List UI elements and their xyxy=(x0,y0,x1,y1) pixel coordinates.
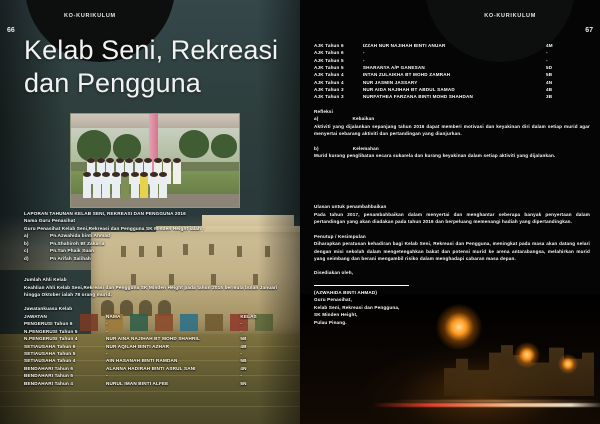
conclusion-heading: Penutup / Kesimpulan xyxy=(314,233,590,240)
right-page: KO-KURIKULUM 67 AJK Tahun 6 IZZAH NUR NA… xyxy=(300,0,600,424)
strength-label: Kebaikan xyxy=(352,116,374,121)
advisor-name: Pn.Shahiroh Bt Zakaria xyxy=(50,240,105,247)
club-group-photo xyxy=(70,113,240,208)
cell-post: BENDAHARI Tahun 6 xyxy=(24,365,106,372)
cell-post: SETIAUSAHA Tahun 4 xyxy=(24,357,106,364)
col-jawatan: JAWATAN xyxy=(24,313,106,320)
cell-name: - xyxy=(106,320,240,327)
prepared-by-label: Disediakan oleh, xyxy=(314,269,590,276)
cell-class: - xyxy=(546,49,590,56)
cell-post: AJK Tahun 4 xyxy=(314,79,363,86)
table-row: PENGERUSI Tahun 6 - - xyxy=(24,320,286,327)
advisor-key: a) xyxy=(24,232,50,239)
cell-name: SHARANYA A/P GANESAN xyxy=(363,64,546,71)
signature-name: (AZWAHIDA BINTI AHMAD) xyxy=(314,289,590,296)
ajk-table: AJK Tahun 6 IZZAH NUR NAJIHAH BINTI ANUA… xyxy=(314,42,590,101)
reflection-heading: Refleksi xyxy=(314,108,590,115)
table-row: BENDAHARI Tahun 4 NURUL IMAN BINTI ALFEE… xyxy=(24,380,286,387)
weakness-label: Kelemahan xyxy=(353,146,379,151)
improvement-text: Pada tahun 2017, penambahbaikan dalam me… xyxy=(314,211,590,226)
cell-name: IZZAH NUR NAJIHAH BINTI ANUAR xyxy=(363,42,546,49)
col-nama: NAMA xyxy=(106,313,240,320)
advisor-intro: Guru Penasihat Kelab Seni,Rekreasi dan P… xyxy=(24,225,286,232)
cell-post: AJK Tahun 4 xyxy=(314,71,363,78)
advisor-key: d) xyxy=(24,255,50,262)
page-title-line-2: dan Pengguna xyxy=(24,67,284,100)
table-row: N.PENGERUSI Tahun 5 - - xyxy=(24,328,286,335)
table-header-row: JAWATAN NAMA KELAS xyxy=(24,313,286,320)
cell-class: 5B xyxy=(240,335,286,342)
committee-heading: Jawatankuasa Kelab xyxy=(24,305,286,312)
table-row: N.PENGERUSI Tahun 4 NUR AINA NAJIHAH BT … xyxy=(24,335,286,342)
table-row: AJK Tahun 4 NUR JASMIN JASSARY 4N xyxy=(314,79,590,86)
cell-class: - xyxy=(240,320,286,327)
cell-post: N.PENGERUSI Tahun 5 xyxy=(24,328,106,335)
signature-school: SK Minden Height, xyxy=(314,311,590,318)
improvement-heading: Ulasan untuk penambahbaikan xyxy=(314,203,590,210)
table-row: AJK Tahun 3 NUR AIDA NAJIHAH BT ABDUL SA… xyxy=(314,86,590,93)
left-report-text: LAPORAN TAHUNAN KELAB SENI, REKREASI DAN… xyxy=(24,210,286,387)
strength-row: a)Kebaikan xyxy=(314,115,590,122)
table-row: AJK Tahun 4 INTAN ZULAIKHA BT MOHD ZAMRA… xyxy=(314,71,590,78)
weakness-row: b)Kelemahan xyxy=(314,145,590,152)
table-row: BENDAHARI Tahun 5 - - xyxy=(24,372,286,379)
weakness-text: Murid kurang penglibatan secara sukarela… xyxy=(314,152,590,159)
advisor-item: a) Pn.Azwahida binti Ahmad xyxy=(24,232,286,239)
left-page: KO-KURIKULUM 66 Kelab Seni, Rekreasi dan… xyxy=(0,0,300,424)
cell-class: - xyxy=(240,328,286,335)
cell-class: 4B xyxy=(240,343,286,350)
cell-name: INTAN ZULAIKHA BT MOHD ZAMRAH xyxy=(363,71,546,78)
cell-class: 5D xyxy=(546,64,590,71)
cell-class: - xyxy=(546,57,590,64)
cell-name: NUR AQILAH BINTI AZHAR xyxy=(106,343,240,350)
cell-class: 4N xyxy=(546,79,590,86)
cell-name: - xyxy=(106,350,240,357)
cell-name: NUR JASMIN JASSARY xyxy=(363,79,546,86)
signature-line xyxy=(314,285,409,286)
cell-class: 4B xyxy=(546,86,590,93)
table-row: SETIAUSAHA Tahun 4 AIN HASANAH BINTI RAM… xyxy=(24,357,286,364)
cell-name: ALANNA HADIRAH BINTI ASRUL SANI xyxy=(106,365,240,372)
cell-post: AJK Tahun 5 xyxy=(314,57,363,64)
cell-post: BENDAHARI Tahun 4 xyxy=(24,380,106,387)
cell-class: 4N xyxy=(240,365,286,372)
street-lamp-glow xyxy=(558,354,578,374)
cell-name: - xyxy=(106,372,240,379)
report-heading: LAPORAN TAHUNAN KELAB SENI, REKREASI DAN… xyxy=(24,210,286,217)
cell-name: NURUL IMAN BINTI ALFEE xyxy=(106,380,240,387)
cell-post: SETIAUSAHA Tahun 6 xyxy=(24,343,106,350)
cell-post: SETIAUSAHA Tahun 5 xyxy=(24,350,106,357)
cell-name: NUR AIDA NAJIHAH BT ABDUL SAMAD xyxy=(363,86,546,93)
page-number-left: 66 xyxy=(7,27,15,34)
cell-class: 5B xyxy=(546,71,590,78)
magazine-spread: KO-KURIKULUM 66 Kelab Seni, Rekreasi dan… xyxy=(0,0,600,424)
table-row: AJK Tahun 6 - - xyxy=(314,49,590,56)
cell-class: - xyxy=(240,350,286,357)
signature-role: Guru Penasihat, xyxy=(314,296,590,303)
light-trail xyxy=(372,403,600,407)
table-row: AJK Tahun 5 SHARANYA A/P GANESAN 5D xyxy=(314,64,590,71)
members-heading: Jumlah Ahli Kelab xyxy=(24,276,286,283)
cell-post: AJK Tahun 6 xyxy=(314,49,363,56)
strength-text: Aktiviti yang dijalankan sepanjang tahun… xyxy=(314,123,590,138)
cell-name: - xyxy=(363,49,546,56)
members-text: Keahlian Ahli Kelab Seni,Rekreasi dan Pe… xyxy=(24,284,286,299)
cell-post: AJK Tahun 5 xyxy=(314,64,363,71)
advisor-item: c) Pn.Tan Phaik Suan xyxy=(24,247,286,254)
table-row: SETIAUSAHA Tahun 6 NUR AQILAH BINTI AZHA… xyxy=(24,343,286,350)
advisor-heading: Nama Guru Penasihat xyxy=(24,217,286,224)
cell-name: NUR AINA NAJIHAH BT MOHD SHAHRIL xyxy=(106,335,240,342)
table-row: AJK Tahun 5 - - xyxy=(314,57,590,64)
committee-table: JAWATAN NAMA KELAS PENGERUSI Tahun 6 - -… xyxy=(24,313,286,387)
advisor-key: c) xyxy=(24,247,50,254)
cell-name: - xyxy=(106,328,240,335)
page-title-line-1: Kelab Seni, Rekreasi xyxy=(24,34,284,67)
cell-class: - xyxy=(240,372,286,379)
signature-club: Kelab Seni, Rekreasi dan Pengguna, xyxy=(314,304,590,311)
table-row: BENDAHARI Tahun 6 ALANNA HADIRAH BINTI A… xyxy=(24,365,286,372)
cell-class: 5N xyxy=(240,380,286,387)
cell-name: NURFATHEA FARZANA BINTI MOHD SHAHDAN xyxy=(363,93,546,100)
cell-post: AJK Tahun 3 xyxy=(314,93,363,100)
cell-post: AJK Tahun 3 xyxy=(314,86,363,93)
header-label-left: KO-KURIKULUM xyxy=(64,13,116,19)
table-row: SETIAUSAHA Tahun 5 - - xyxy=(24,350,286,357)
cell-post: N.PENGERUSI Tahun 4 xyxy=(24,335,106,342)
street-lamp-glow xyxy=(514,342,540,368)
page-number-right: 67 xyxy=(585,27,593,34)
cell-post: BENDAHARI Tahun 5 xyxy=(24,372,106,379)
cell-name: - xyxy=(363,57,546,64)
cell-class: 3B xyxy=(546,93,590,100)
advisor-name: Pn Arifah Salihah xyxy=(50,255,91,262)
cell-class: 5B xyxy=(240,357,286,364)
advisor-name: Pn.Tan Phaik Suan xyxy=(50,247,94,254)
advisor-name: Pn.Azwahida binti Ahmad xyxy=(50,232,110,239)
strength-key: a) xyxy=(314,116,318,121)
conclusion-text: Diharapkan peratusan kehadiran bagi Kela… xyxy=(314,240,590,262)
cell-post: AJK Tahun 6 xyxy=(314,42,363,49)
light-trail-secondary xyxy=(390,400,600,402)
page-title: Kelab Seni, Rekreasi dan Pengguna xyxy=(24,34,284,100)
advisor-item: d) Pn Arifah Salihah xyxy=(24,255,286,262)
advisor-key: b) xyxy=(24,240,50,247)
weakness-key: b) xyxy=(314,146,319,151)
right-report-text: AJK Tahun 6 IZZAH NUR NAJIHAH BINTI ANUA… xyxy=(314,42,590,326)
table-row: AJK Tahun 3 NURFATHEA FARZANA BINTI MOHD… xyxy=(314,93,590,100)
table-row: AJK Tahun 6 IZZAH NUR NAJIHAH BINTI ANUA… xyxy=(314,42,590,49)
col-kelas: KELAS xyxy=(240,313,286,320)
cell-name: AIN HASANAH BINTI RAMDAN xyxy=(106,357,240,364)
advisor-item: b) Pn.Shahiroh Bt Zakaria xyxy=(24,240,286,247)
cell-post: PENGERUSI Tahun 6 xyxy=(24,320,106,327)
cell-class: 4M xyxy=(546,42,590,49)
signature-state: Pulau Pinang. xyxy=(314,319,590,326)
header-label-right: KO-KURIKULUM xyxy=(484,13,536,19)
